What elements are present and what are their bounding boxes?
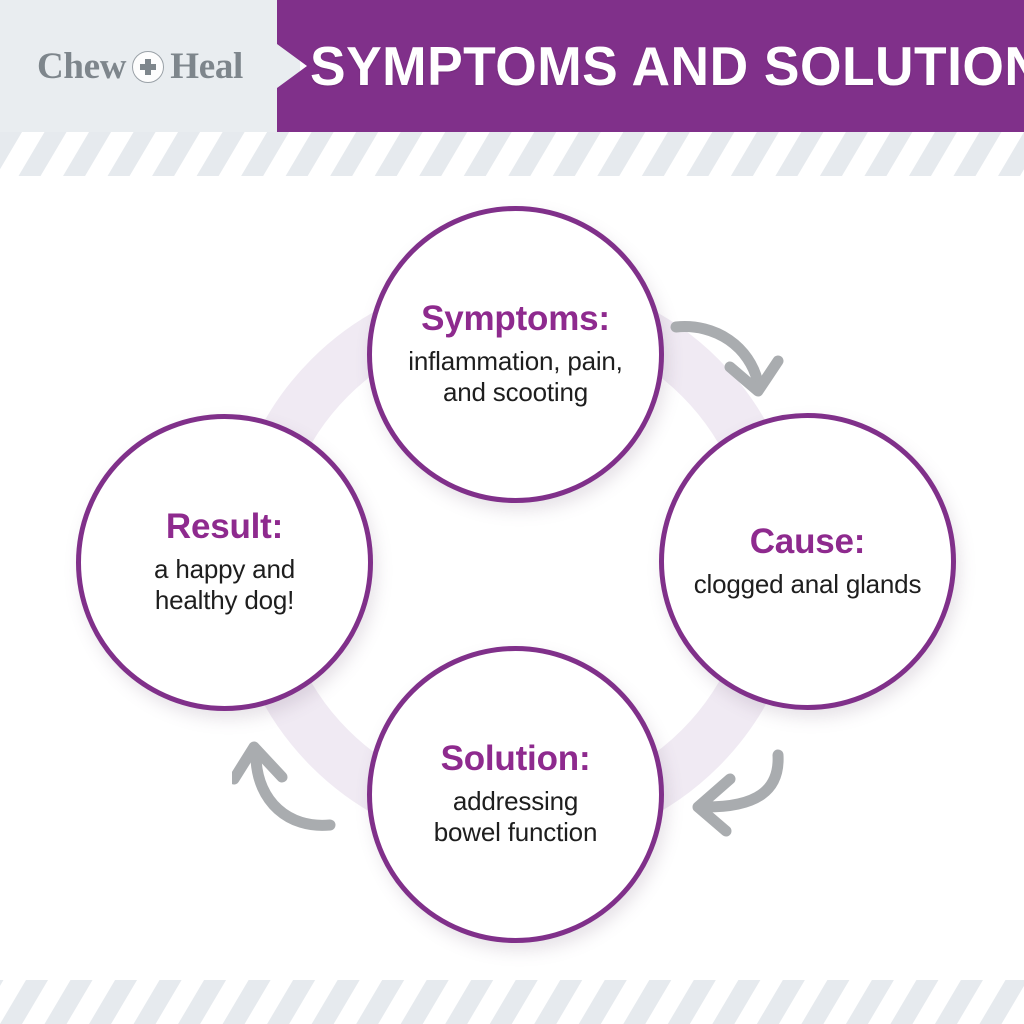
stripe [108,132,156,176]
cycle-node-body-line: a happy and [154,554,295,585]
cycle-node-body: addressing bowel function [420,786,611,847]
stripe [267,980,315,1024]
cycle-node-title: Cause: [750,524,866,561]
stripe [909,132,957,176]
cycle-node-title: Symptoms: [421,301,610,338]
stripe [134,980,182,1024]
stripe [801,980,849,1024]
stripe [935,980,983,1024]
cycle-node-body-line: and scooting [408,377,622,408]
stripe [356,980,404,1024]
cycle-node-body-line: bowel function [434,817,597,848]
stripe [464,132,512,176]
stripe [0,132,22,176]
stripe [623,980,671,1024]
page-header: Chew Heal SYMPTOMS AND SOLUTIONS [0,0,1024,132]
stripe [0,980,48,1024]
stripe [731,132,779,176]
stripe [668,980,716,1024]
stripe [178,980,226,1024]
stripe [597,132,645,176]
stripe [686,132,734,176]
brand-logo: Chew Heal [0,0,280,132]
cycle-node-body-line: clogged anal glands [694,569,922,600]
stripe [286,132,334,176]
stripe [712,980,760,1024]
stripe [330,132,378,176]
stripe [953,132,1001,176]
stripe [152,132,200,176]
cycle-node-body-line: inflammation, pain, [408,346,622,377]
stripe [197,132,245,176]
bottom-stripe-decoration [0,962,1024,1024]
cycle-node-body: clogged anal glands [680,569,936,600]
stripe [375,132,423,176]
stripe [401,980,449,1024]
cycle-node-result: Result: a happy and healthy dog! [76,414,373,711]
stripe [820,132,868,176]
logo-word-left: Chew [37,48,126,85]
cycle-node-body: a happy and healthy dog! [140,554,309,615]
stripe [579,980,627,1024]
arrow-solution-to-result-icon [232,733,352,848]
stripe [19,132,67,176]
cycle-node-solution: Solution: addressing bowel function [367,646,664,943]
stripe [419,132,467,176]
stripe [775,132,823,176]
stripe [45,980,93,1024]
page-title: SYMPTOMS AND SOLUTIONS [310,0,999,132]
stripe [979,980,1024,1024]
arrow-symptoms-to-cause-icon [668,305,788,415]
cycle-node-title: Result: [166,509,283,546]
stripe [89,980,137,1024]
logo-word-right: Heal [170,48,243,85]
stripe [0,980,3,1024]
stripe [490,980,538,1024]
stripe [998,132,1024,176]
top-stripe-decoration [0,132,1024,194]
stripe [312,980,360,1024]
stripe [223,980,271,1024]
plus-circle-icon [132,51,164,83]
stripe [553,132,601,176]
cycle-node-body-line: addressing [434,786,597,817]
cycle-node-body: inflammation, pain, and scooting [394,346,636,407]
cycle-node-title: Solution: [441,741,591,778]
stripe [864,132,912,176]
stripe [63,132,111,176]
stripe [241,132,289,176]
stripe [846,980,894,1024]
stripe [642,132,690,176]
cycle-node-cause: Cause: clogged anal glands [659,413,956,710]
stripe [757,980,805,1024]
cycle-node-body-line: healthy dog! [154,585,295,616]
stripe [890,980,938,1024]
infographic-canvas: Chew Heal SYMPTOMS AND SOLUTIONS Symptom… [0,0,1024,1024]
stripe [445,980,493,1024]
stripe [534,980,582,1024]
arrow-cause-to-solution-icon [668,745,793,850]
stripe [508,132,556,176]
cycle-node-symptoms: Symptoms: inflammation, pain, and scooti… [367,206,664,503]
